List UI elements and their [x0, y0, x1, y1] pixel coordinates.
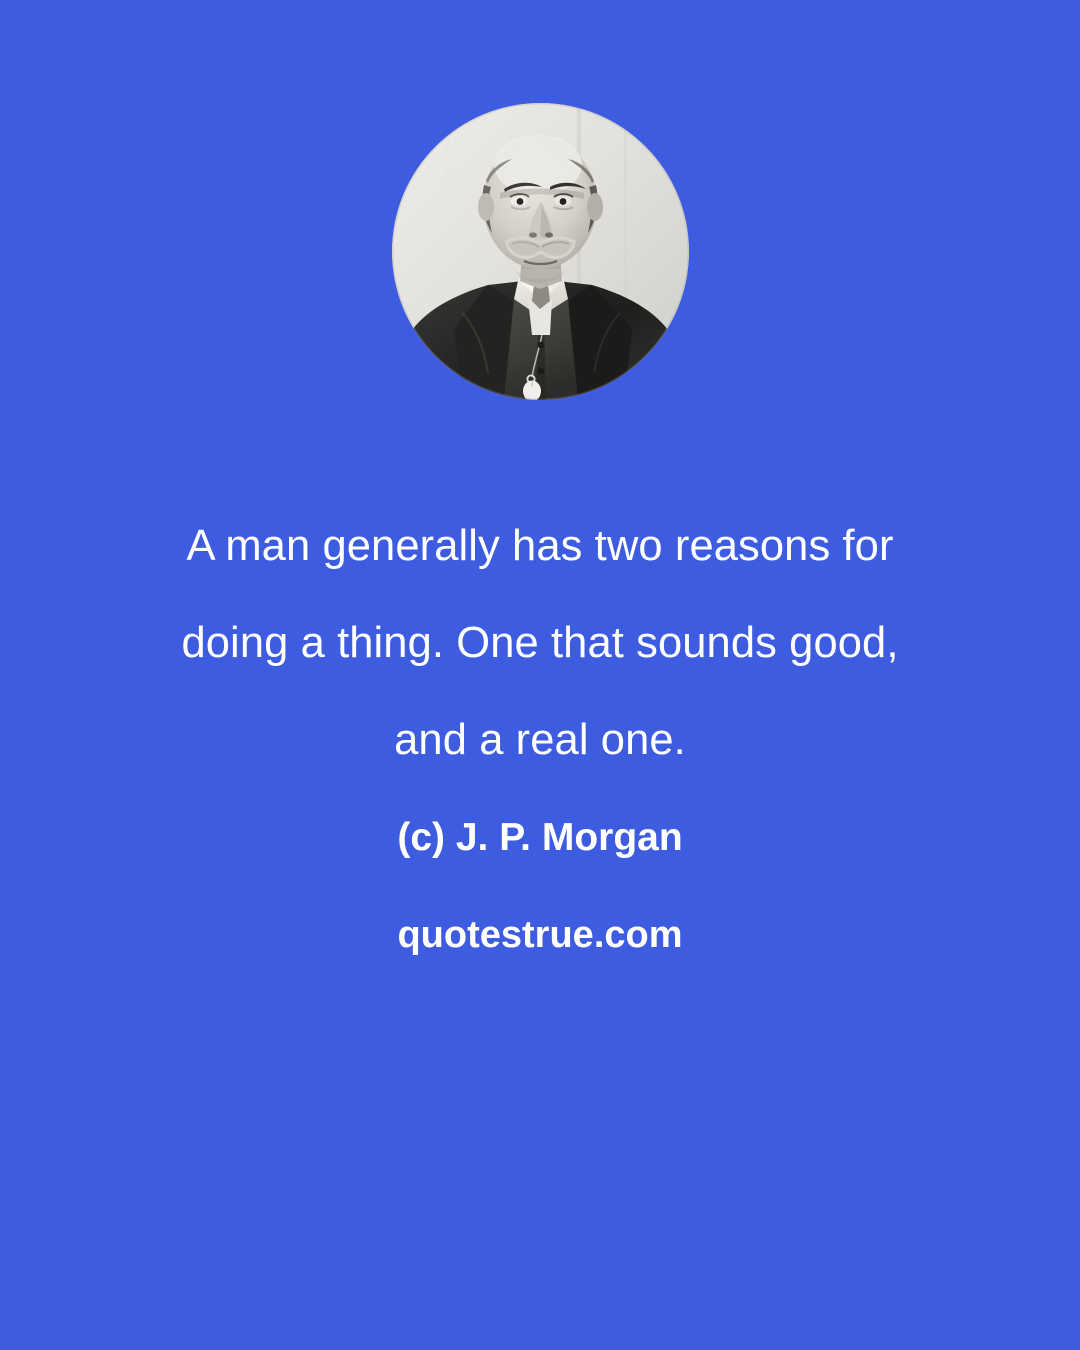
site-watermark: quotestrue.com — [0, 912, 1080, 958]
quote-line: and a real one. — [0, 692, 1080, 789]
portrait-photo-circular — [392, 103, 689, 400]
quote-card: A man generally has two reasons for doin… — [0, 0, 1080, 1350]
quote-line: A man generally has two reasons for — [0, 498, 1080, 595]
quote-text-block: A man generally has two reasons for doin… — [0, 498, 1080, 958]
quote-attribution: (c) J. P. Morgan — [0, 814, 1080, 862]
portrait-illustration — [392, 103, 689, 400]
quote-line: doing a thing. One that sounds good, — [0, 595, 1080, 692]
